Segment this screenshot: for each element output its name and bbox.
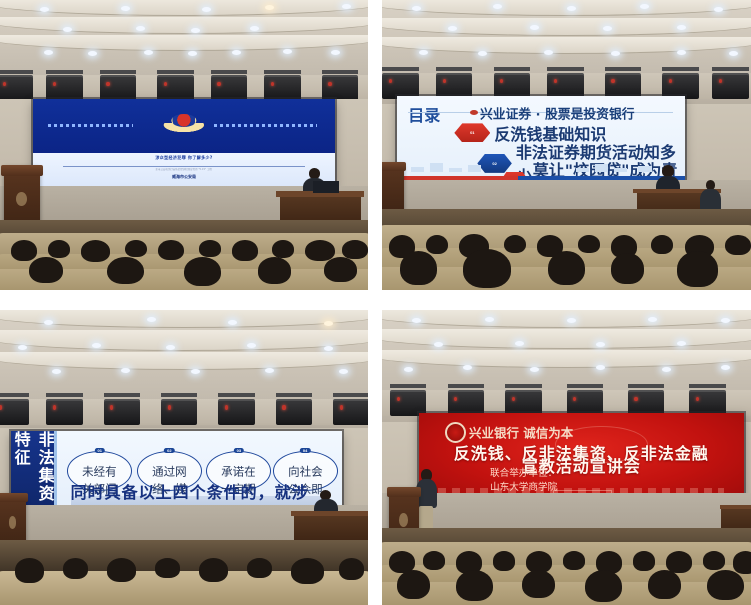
lighting-truss	[0, 75, 368, 101]
feature-number: 03	[234, 448, 244, 453]
ceiling-light	[677, 341, 686, 346]
decor-dots	[48, 124, 132, 127]
ceiling-light	[121, 368, 130, 373]
agenda-heading: 目录	[408, 102, 440, 126]
ceiling-light	[228, 320, 237, 325]
stage-speaker	[276, 399, 312, 426]
event-banner-slide: 兴业银行 诚信为本 反洗钱、反非法集资、反非法金融 宣教活动宣讲会 联合举办单位…	[419, 413, 744, 502]
units-label: 联合举办单位：	[490, 466, 622, 480]
photo-bottom-right: 兴业银行 诚信为本 反洗钱、反非法集资、反非法金融 宣教活动宣讲会 联合举办单位…	[382, 310, 751, 605]
stage-speaker	[662, 73, 698, 99]
led-screen-tl: 涉众型经济犯罪 你了解多少? 全市公安机关打击防范经济犯罪宣传月 "5.15" …	[33, 99, 335, 186]
stage-speaker	[104, 399, 140, 426]
ceiling-light	[63, 27, 72, 32]
stage-speaker	[0, 75, 33, 101]
stage-speaker	[505, 390, 541, 417]
lighting-truss	[382, 390, 751, 417]
audience-tr	[382, 209, 751, 290]
stage-speaker	[264, 75, 300, 101]
podium-left	[382, 162, 404, 214]
brand-mark-icon	[470, 110, 478, 115]
photo-collage: 涉众型经济犯罪 你了解多少? 全市公安机关打击防范经济犯罪宣传月 "5.15" …	[0, 0, 751, 605]
ceiling-light	[232, 50, 241, 55]
stage-speaker	[628, 390, 664, 417]
ceiling-light	[714, 7, 723, 12]
stage-speaker	[211, 75, 247, 101]
stage-speaker	[0, 399, 29, 426]
decor-dots	[214, 124, 317, 127]
ceiling-light	[419, 50, 428, 55]
ceiling-panel	[0, 352, 368, 370]
ceiling-light	[596, 342, 605, 347]
ceiling-light	[567, 6, 576, 11]
ceiling-panel	[382, 18, 751, 37]
ceiling-light	[662, 367, 671, 372]
hall-scene-tl: 涉众型经济犯罪 你了解多少? 全市公安机关打击防范经济犯罪宣传月 "5.15" …	[0, 0, 368, 290]
slide-organization: 威海市公安局	[57, 175, 311, 180]
ceiling-light	[18, 345, 27, 350]
feature-slide: 非法集资特征 01 未经有关部门依法许可或借用合法经营的形式吸收资金，即非法性 …	[11, 431, 342, 517]
china-police-badge-icon	[161, 113, 206, 136]
ceiling-panel	[0, 35, 368, 51]
ceiling-light	[729, 51, 738, 56]
audience-tl	[0, 220, 368, 290]
ceiling-light	[324, 346, 333, 351]
ceiling-light	[412, 6, 421, 11]
ceiling-light	[648, 317, 657, 322]
slide-header-band	[33, 99, 335, 153]
ceiling-light	[188, 51, 197, 56]
ceiling-light	[88, 51, 97, 56]
photo-top-right: 目录 兴业证券 · 股票是投资银行 01 反洗钱基础知识 02 非法证券期货活动…	[382, 0, 751, 290]
stage-speaker	[567, 390, 603, 417]
laptop-icon	[313, 181, 339, 193]
ceiling-light	[515, 341, 524, 346]
ceiling-light	[412, 318, 421, 323]
ceiling-light	[404, 367, 413, 372]
ceiling-panel	[0, 330, 368, 351]
ceiling-light	[265, 368, 274, 373]
stage-speaker	[161, 399, 197, 426]
stage-speaker	[689, 390, 725, 417]
hall-scene-bl: 非法集资特征 01 未经有关部门依法许可或借用合法经营的形式吸收资金，即非法性 …	[0, 310, 368, 605]
stage-speaker	[605, 73, 641, 99]
ceiling-light	[567, 318, 576, 323]
ceiling-light	[721, 365, 730, 370]
stage-speaker	[333, 399, 368, 426]
ceiling-light	[434, 342, 443, 347]
ceiling-panel	[0, 310, 368, 328]
led-screen-br: 兴业银行 诚信为本 反洗钱、反非法集资、反非法金融 宣教活动宣讲会 联合举办单位…	[419, 413, 744, 502]
stage-speaker	[46, 75, 82, 101]
ceiling-light	[283, 49, 292, 54]
stage-speaker	[157, 75, 193, 101]
ceiling-panel	[382, 37, 751, 53]
ceiling-light	[166, 345, 175, 350]
stage-speaker	[436, 73, 472, 99]
stage-speaker	[100, 75, 136, 101]
stage-speaker	[322, 75, 358, 101]
ceiling-light	[339, 369, 348, 374]
podium-emblem-icon	[399, 513, 408, 527]
photo-bottom-left: 非法集资特征 01 未经有关部门依法许可或借用合法经营的形式吸收资金，即非法性 …	[0, 310, 368, 605]
feature-number: 04	[300, 448, 310, 453]
lighting-truss	[382, 73, 751, 99]
ceiling-light	[596, 365, 605, 370]
podium-emblem-icon	[9, 516, 17, 528]
led-screen-bl: 非法集资特征 01 未经有关部门依法许可或借用合法经营的形式吸收资金，即非法性 …	[11, 431, 342, 517]
ceiling-light	[463, 365, 472, 370]
ceiling-light	[144, 50, 153, 55]
audience-bl	[0, 540, 368, 605]
podium-emblem-icon	[16, 192, 27, 206]
ceiling-light	[677, 50, 686, 55]
stage-speaker	[382, 73, 418, 99]
slide-subtitle: 全市公安机关打击防范经济犯罪宣传月 "5.15" 工程	[113, 168, 255, 171]
agenda-slide: 目录 兴业证券 · 股票是投资银行 01 反洗钱基础知识 02 非法证券期货活动…	[397, 96, 685, 180]
title-slide: 涉众型经济犯罪 你了解多少? 全市公安机关打击防范经济犯罪宣传月 "5.15" …	[33, 99, 335, 186]
photo-top-left: 涉众型经济犯罪 你了解多少? 全市公安机关打击防范经济犯罪宣传月 "5.15" …	[0, 0, 368, 290]
feature-number: 02	[164, 448, 174, 453]
hall-scene-br: 兴业银行 诚信为本 反洗钱、反非法集资、反非法金融 宣教活动宣讲会 联合举办单位…	[382, 310, 751, 605]
ceiling-light	[530, 367, 539, 372]
ceiling-panel	[382, 350, 751, 368]
feature-number: 01	[95, 448, 105, 453]
ceiling-panel	[0, 17, 368, 35]
stage-speaker	[494, 73, 530, 99]
ceiling-light	[331, 50, 340, 55]
lighting-truss	[0, 399, 368, 426]
hall-scene-tr: 目录 兴业证券 · 股票是投资银行 01 反洗钱基础知识 02 非法证券期货活动…	[382, 0, 751, 290]
ceiling-light	[324, 321, 333, 326]
ceiling-light	[44, 50, 53, 55]
slide-title: 涉众型经济犯罪 你了解多少?	[57, 156, 311, 161]
stage-speaker	[390, 390, 426, 417]
audience-br	[382, 528, 751, 605]
stage-speaker	[547, 73, 583, 99]
ceiling-light	[721, 318, 730, 323]
decor-bars	[405, 159, 676, 172]
ceiling-light	[544, 50, 553, 55]
stage-speaker	[46, 399, 82, 426]
ceiling-panel	[0, 0, 368, 16]
stage-speaker	[448, 390, 484, 417]
ceiling-light	[52, 369, 61, 374]
led-screen-tr: 目录 兴业证券 · 股票是投资银行 01 反洗钱基础知识 02 非法证券期货活动…	[397, 96, 685, 180]
brand-name: 兴业证券 · 股票是投资银行	[480, 103, 635, 122]
ceiling-light	[44, 320, 53, 325]
stage-speaker	[218, 399, 254, 426]
ceiling-light	[191, 369, 200, 374]
ceiling-light	[611, 51, 620, 56]
stage-speaker	[712, 73, 748, 99]
ceiling-light	[478, 51, 487, 56]
